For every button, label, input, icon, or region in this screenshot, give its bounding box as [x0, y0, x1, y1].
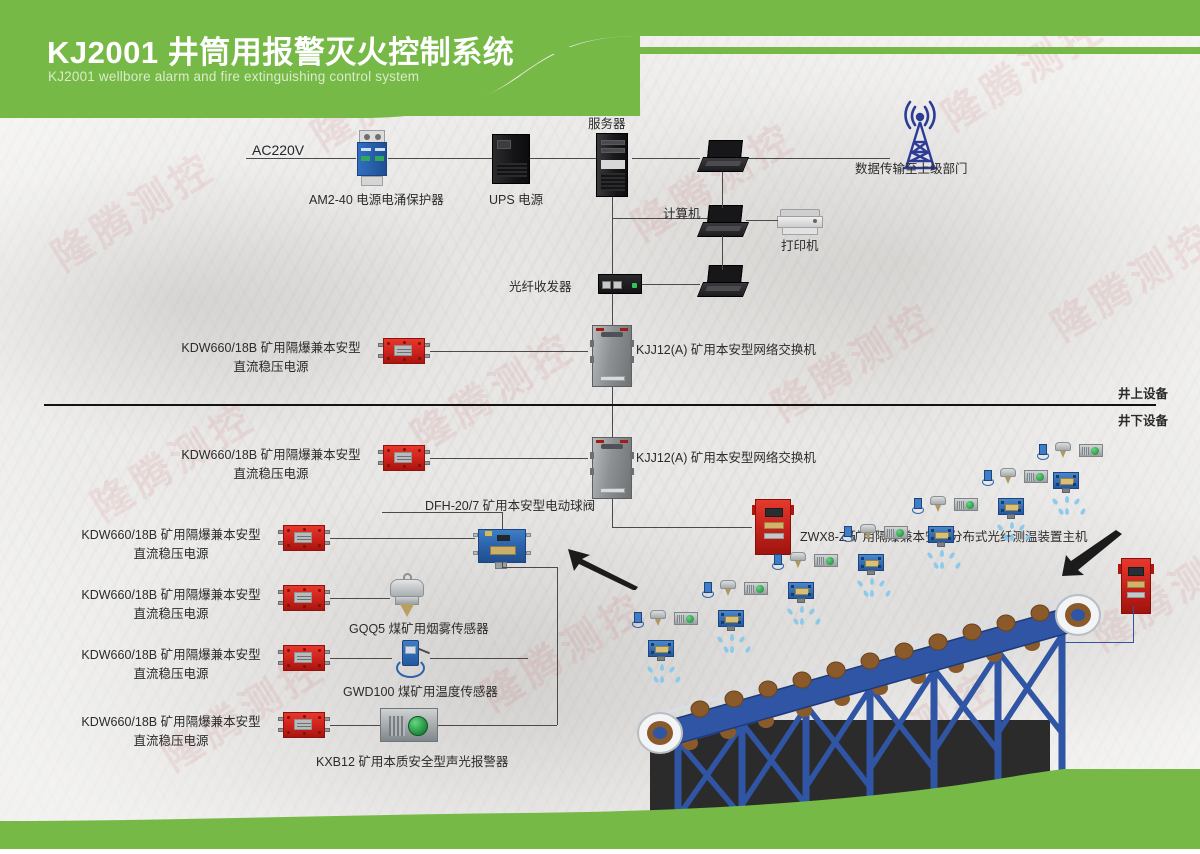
- power-supply-label-line1: KDW660/18B 矿用隔爆兼本安型: [76, 713, 266, 732]
- power-supply-device: [278, 585, 330, 611]
- footer-green-shape: [0, 769, 1200, 849]
- ups-label: UPS 电源: [489, 191, 543, 209]
- temperature-sensor-device: [390, 638, 430, 682]
- field-unit-drop-line: [1133, 606, 1134, 642]
- sound-light-alarm-device: [380, 708, 438, 742]
- switch-to-zwx-line: [612, 527, 752, 528]
- power-supply-label-line2: 直流稳压电源: [76, 665, 266, 684]
- ps-to-switch-line-underground: [430, 458, 588, 459]
- sprinkler-station: [770, 542, 844, 652]
- sprinkler-station: [840, 514, 914, 624]
- valve-stem-line: [502, 558, 503, 568]
- valve-label-leader-v: [502, 512, 503, 530]
- ac-bus-line-mid: [388, 158, 492, 159]
- power-supply-label-line1: KDW660/18B 矿用隔爆兼本安型: [76, 526, 266, 545]
- computer-link-2: [722, 236, 723, 270]
- computer-to-antenna-line: [748, 158, 890, 159]
- page-footer: [0, 769, 1200, 849]
- ps-to-temp-line: [330, 658, 392, 659]
- computer-device: [700, 205, 746, 239]
- switch-down-trunk: [612, 499, 613, 527]
- field-unit-to-conveyor-line: [1060, 642, 1134, 643]
- network-switch-label: KJJ12(A) 矿用本安型网络交换机: [636, 341, 816, 359]
- server-to-computer-line: [632, 158, 700, 159]
- below-ground-label: 井下设备: [1118, 412, 1168, 430]
- ac-bus-line-right: [530, 158, 602, 159]
- network-switch-device: [592, 325, 632, 387]
- ps-to-smoke-line: [330, 598, 390, 599]
- computer-link-1: [722, 172, 723, 208]
- temperature-sensor-label: GWD100 煤矿用温度传感器: [343, 683, 498, 701]
- printer-label: 打印机: [781, 237, 819, 255]
- power-supply-device: [278, 712, 330, 738]
- diagram-canvas: 隆腾测控 隆腾测控 隆腾测控 隆腾测控 隆腾测控 隆腾测控 隆腾测控 隆腾测控 …: [0, 0, 1200, 849]
- power-supply-label-line2: 直流稳压电源: [176, 358, 366, 377]
- power-supply-device: [278, 645, 330, 671]
- ps-to-valve-line: [330, 538, 475, 539]
- power-supply-label: KDW660/18B 矿用隔爆兼本安型 直流稳压电源: [176, 339, 366, 377]
- computer-device: [700, 140, 746, 174]
- fiber-to-computer3-line: [642, 284, 700, 285]
- computer-device: [700, 265, 746, 299]
- fiber-transceiver-label: 光纤收发器: [509, 278, 572, 296]
- sprinkler-station: [1035, 432, 1109, 542]
- smoke-sensor-label: GQQ5 煤矿用烟雾传感器: [349, 620, 489, 638]
- power-supply-label-line1: KDW660/18B 矿用隔爆兼本安型: [76, 586, 266, 605]
- computer-to-printer-line: [746, 220, 778, 221]
- ps-to-switch-line-surface: [430, 351, 588, 352]
- surge-protector-label: AM2-40 电源电涌保护器: [309, 191, 444, 209]
- page-subtitle: KJ2001 wellbore alarm and fire extinguis…: [48, 69, 419, 84]
- server-trunk-line: [612, 197, 613, 325]
- uplink-label: 数据传输至上级部门: [855, 160, 968, 178]
- power-supply-label-line2: 直流稳压电源: [176, 465, 366, 484]
- ac220v-label: AC220V: [252, 140, 304, 160]
- alarm-return-line: [438, 725, 557, 726]
- field-control-unit-device: [1118, 558, 1154, 606]
- temp-return-line: [430, 658, 528, 659]
- sprinkler-station: [700, 570, 774, 680]
- network-switch-label: KJJ12(A) 矿用本安型网络交换机: [636, 449, 816, 467]
- sprinkler-station: [630, 600, 704, 710]
- surge-protector-device: [355, 130, 389, 186]
- power-supply-label: KDW660/18B 矿用隔爆兼本安型 直流稳压电源: [76, 586, 266, 624]
- ups-device: [492, 134, 530, 184]
- power-supply-label-line2: 直流稳压电源: [76, 605, 266, 624]
- printer-device: [777, 209, 823, 239]
- power-supply-label-line1: KDW660/18B 矿用隔爆兼本安型: [176, 446, 366, 465]
- above-ground-label: 井上设备: [1118, 385, 1168, 403]
- sensor-return-bus-v: [557, 567, 558, 725]
- sprinkler-station: [910, 486, 984, 596]
- smoke-sensor-device: [386, 573, 428, 621]
- network-switch-device: [592, 437, 632, 499]
- power-supply-device: [378, 445, 430, 471]
- pointer-arrow-left: [560, 545, 640, 590]
- power-supply-label: KDW660/18B 矿用隔爆兼本安型 直流稳压电源: [76, 646, 266, 684]
- power-supply-device: [278, 525, 330, 551]
- power-supply-label: KDW660/18B 矿用隔爆兼本安型 直流稳压电源: [176, 446, 366, 484]
- power-supply-label-line2: 直流稳压电源: [76, 732, 266, 751]
- power-supply-label-line2: 直流稳压电源: [76, 545, 266, 564]
- power-supply-label: KDW660/18B 矿用隔爆兼本安型 直流稳压电源: [76, 526, 266, 564]
- power-supply-label-line1: KDW660/18B 矿用隔爆兼本安型: [76, 646, 266, 665]
- page-title: KJ2001 井筒用报警灭火控制系统: [47, 27, 514, 72]
- server-device: [596, 133, 628, 197]
- computer-label: 计算机: [663, 205, 701, 223]
- ps-to-alarm-line: [330, 725, 382, 726]
- power-supply-label: KDW660/18B 矿用隔爆兼本安型 直流稳压电源: [76, 713, 266, 751]
- power-supply-device: [378, 338, 430, 364]
- valve-label-leader-h: [382, 512, 502, 513]
- ground-level-divider: [44, 404, 1156, 406]
- valve-return-line: [502, 567, 557, 568]
- power-supply-label-line1: KDW660/18B 矿用隔爆兼本安型: [176, 339, 366, 358]
- fiber-transceiver-device: [598, 274, 642, 294]
- server-label: 服务器: [588, 115, 626, 133]
